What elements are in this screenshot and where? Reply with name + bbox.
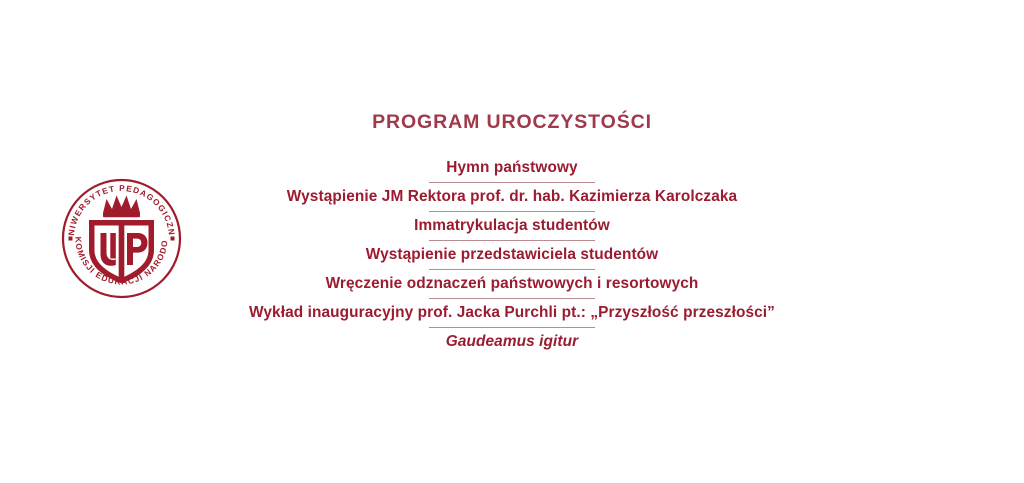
program-separator (429, 327, 595, 328)
program-separator (429, 269, 595, 270)
program-item: Wystąpienie przedstawiciela studentów (366, 242, 659, 268)
program-item: Wręczenie odznaczeń państwowych i resort… (326, 271, 699, 297)
program-item: Hymn państwowy (446, 155, 577, 181)
program-separator (429, 240, 595, 241)
program-separator (429, 211, 595, 212)
program-item: Wystąpienie JM Rektora prof. dr. hab. Ka… (287, 184, 737, 210)
program-list: Hymn państwowy Wystąpienie JM Rektora pr… (0, 155, 1024, 355)
program-item: Immatrykulacja studentów (414, 213, 610, 239)
program-separator (429, 298, 595, 299)
program-item: Gaudeamus igitur (446, 329, 578, 355)
program-separator (429, 182, 595, 183)
page-title: PROGRAM UROCZYSTOŚCI (0, 111, 1024, 134)
program-poster: PROGRAM UROCZYSTOŚCI UNIWERSYTET PEDAGOG… (0, 0, 1024, 483)
program-item: Wykład inauguracyjny prof. Jacka Purchli… (249, 300, 775, 326)
